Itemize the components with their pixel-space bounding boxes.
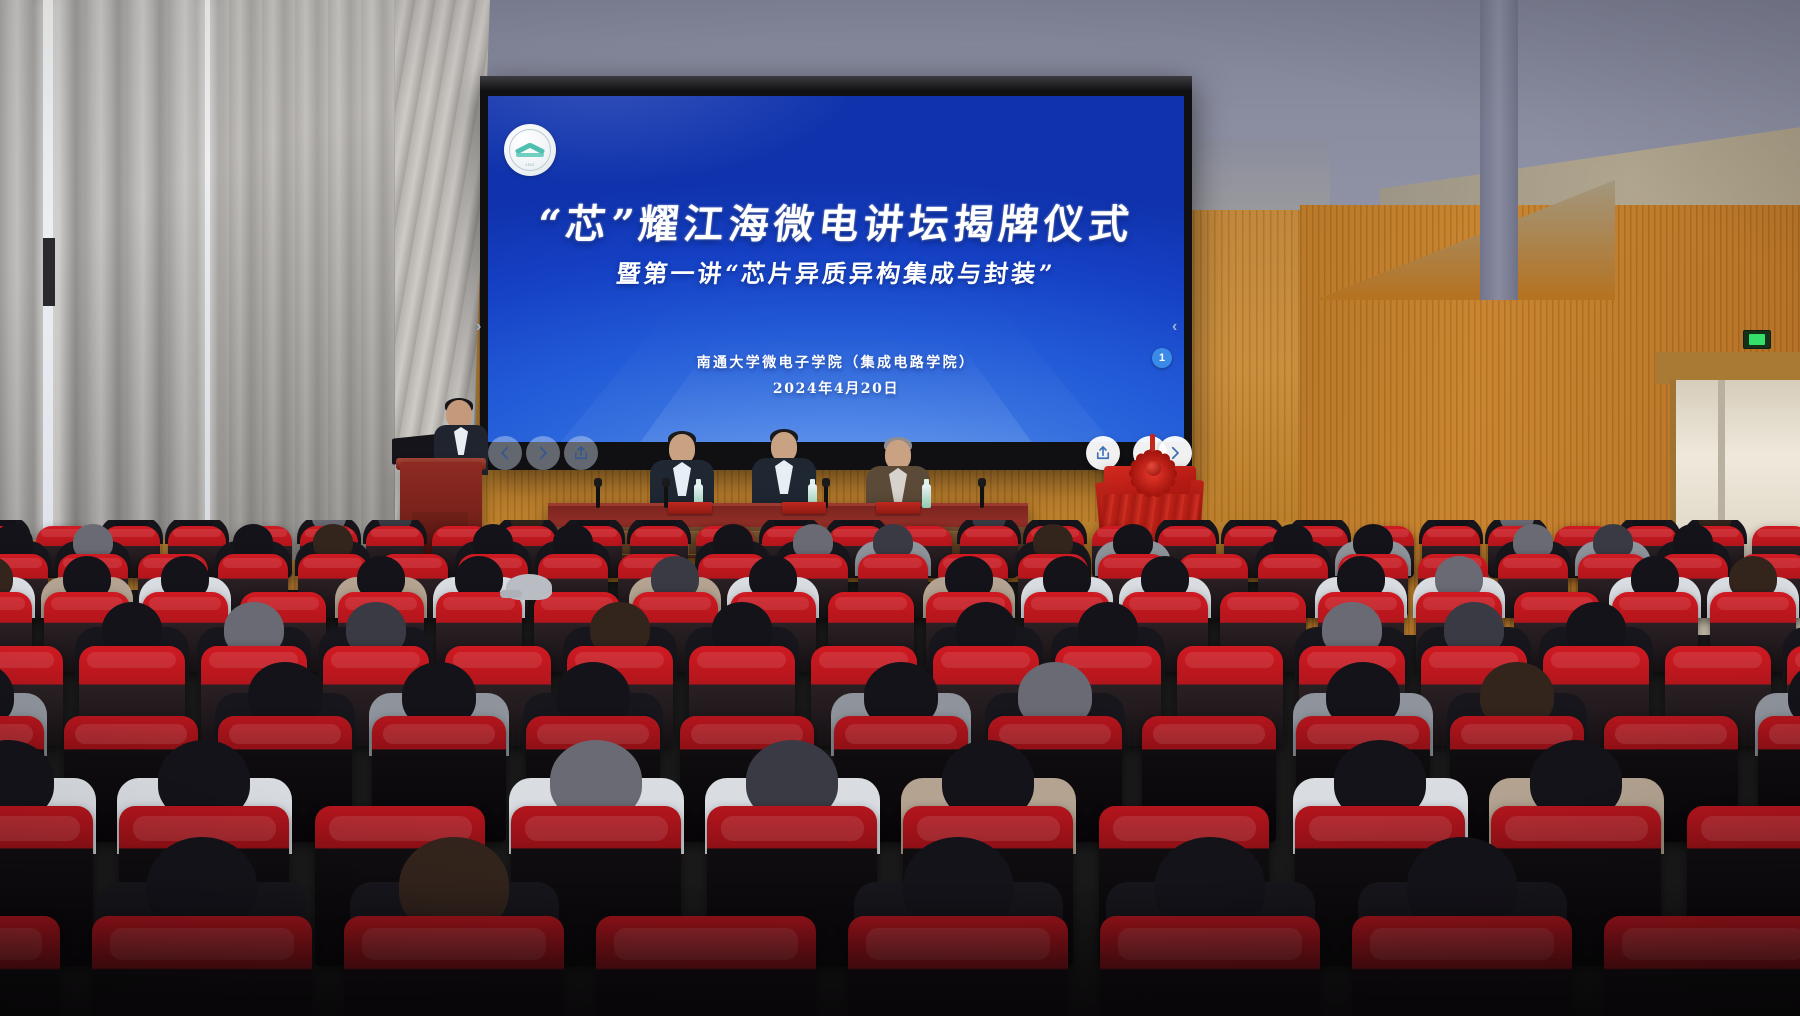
audience-member-cap [506, 574, 552, 600]
share-icon[interactable] [564, 436, 598, 470]
share-icon[interactable] [1086, 436, 1120, 470]
panelist-nameplate [876, 502, 920, 514]
slide-organization: 南通大学微电子学院（集成电路学院） [488, 352, 1184, 372]
slide-date: 2024年4月20日 [488, 378, 1184, 398]
led-display-frame: 1912 “芯”耀江海微电讲坛揭牌仪式 暨第一讲“芯片异质异构集成与封装” 南通… [480, 76, 1192, 470]
microphone [596, 482, 600, 508]
red-rosette-flower [1130, 448, 1176, 488]
auditorium-scene: 1912 “芯”耀江海微电讲坛揭牌仪式 暨第一讲“芯片异质异构集成与封装” 南通… [0, 0, 1800, 1016]
flower-center [1146, 461, 1161, 476]
page-number-badge: 1 [1152, 348, 1172, 368]
emblem-year-label: 1912 [504, 163, 556, 167]
presentation-screen[interactable]: 1912 “芯”耀江海微电讲坛揭牌仪式 暨第一讲“芯片异质异构集成与封装” 南通… [488, 96, 1184, 442]
window-light-gap [205, 0, 210, 540]
emergency-exit-sign [1743, 330, 1771, 349]
prev-arrow-icon[interactable] [488, 436, 522, 470]
next-arrow-icon[interactable] [526, 436, 560, 470]
panelist-nameplate [668, 502, 712, 514]
panelist-nameplate [782, 502, 826, 514]
microphone [980, 482, 984, 508]
wall-corner-column [1480, 0, 1518, 300]
window-latch [43, 238, 55, 306]
nantong-university-emblem: 1912 [504, 124, 556, 176]
water-bottle [922, 484, 931, 508]
foreground-shadow [0, 880, 1800, 1016]
screen-edge-next-icon[interactable]: › [476, 318, 481, 336]
slide-subtitle: 暨第一讲“芯片异质异构集成与封装” [488, 254, 1184, 289]
slide-title: “芯”耀江海微电讲坛揭牌仪式 [488, 192, 1184, 250]
screen-edge-prev-icon[interactable]: ‹ [1172, 318, 1177, 336]
panelist-center [752, 432, 816, 512]
